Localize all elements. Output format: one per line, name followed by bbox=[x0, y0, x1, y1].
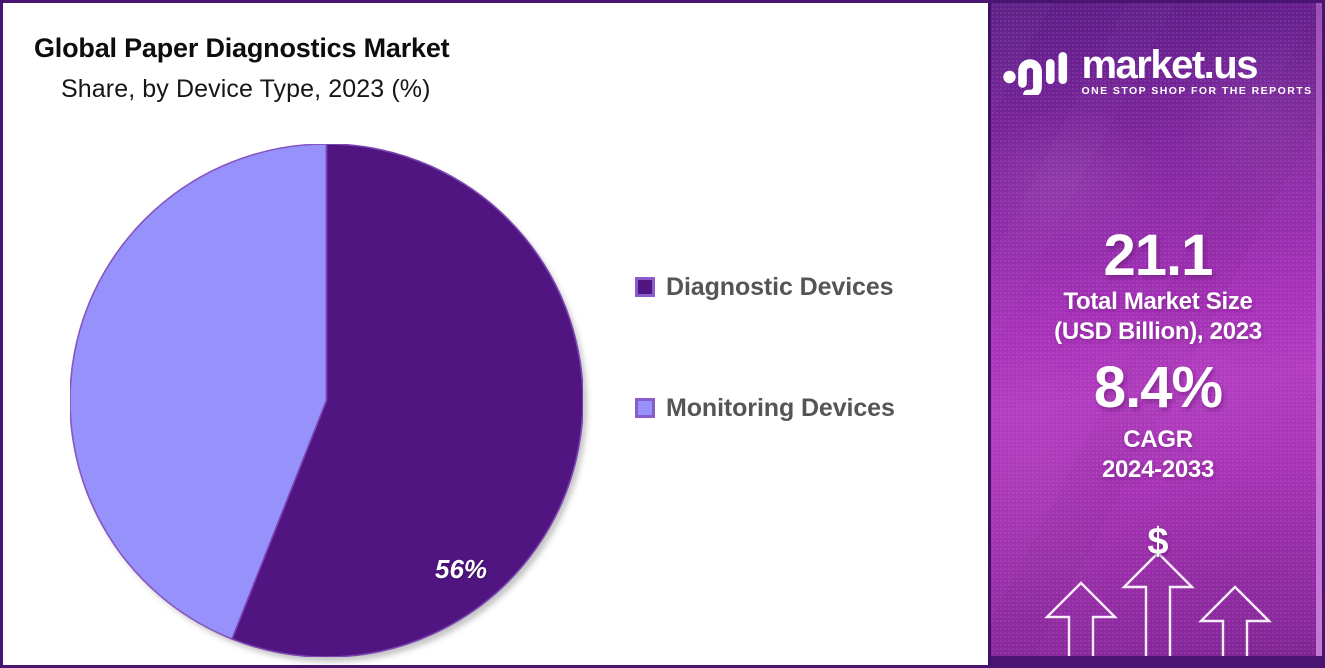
stat-market-size-value: 21.1 bbox=[991, 225, 1322, 287]
brand-logo[interactable]: market.us ONE STOP SHOP FOR THE REPORTS bbox=[991, 43, 1322, 99]
chart-subtitle: Share, by Device Type, 2023 (%) bbox=[61, 75, 431, 104]
brand-logo-text: market.us ONE STOP SHOP FOR THE REPORTS bbox=[1081, 46, 1312, 97]
chart-legend: Diagnostic Devices Monitoring Devices bbox=[635, 273, 945, 422]
pie-chart: 56% bbox=[70, 144, 583, 657]
growth-arrows-graphic: $ bbox=[991, 505, 1322, 665]
legend-label-diagnostic-devices: Diagnostic Devices bbox=[666, 273, 893, 302]
stat-cagr-value: 8.4% bbox=[991, 357, 1322, 419]
pie-slice-label-diagnostic-devices: 56% bbox=[435, 554, 487, 585]
brand-tagline: ONE STOP SHOP FOR THE REPORTS bbox=[1081, 85, 1312, 97]
infographic-frame: Global Paper Diagnostics Market Share, b… bbox=[0, 0, 1325, 668]
stat-cagr-caption-line2: 2024-2033 bbox=[991, 455, 1322, 485]
brand-statistics: 21.1 Total Market Size (USD Billion), 20… bbox=[991, 225, 1322, 485]
pie-slices bbox=[70, 144, 583, 657]
stat-cagr-caption-line1: CAGR bbox=[991, 425, 1322, 455]
legend-swatch-diagnostic-devices bbox=[635, 277, 655, 297]
page-title: Global Paper Diagnostics Market bbox=[34, 33, 449, 64]
legend-label-monitoring-devices: Monitoring Devices bbox=[666, 394, 895, 423]
dollar-sign-icon: $ bbox=[991, 521, 1322, 564]
legend-swatch-monitoring-devices bbox=[635, 398, 655, 418]
chart-panel: Global Paper Diagnostics Market Share, b… bbox=[3, 3, 988, 665]
legend-item-monitoring-devices[interactable]: Monitoring Devices bbox=[635, 394, 945, 422]
brand-bottom-bar bbox=[991, 656, 1322, 665]
legend-item-diagnostic-devices[interactable]: Diagnostic Devices bbox=[635, 273, 945, 301]
stat-market-size-caption: Total Market Size (USD Billion), 2023 bbox=[991, 287, 1322, 347]
stat-cagr-caption: CAGR 2024-2033 bbox=[991, 425, 1322, 485]
brand-wordmark: market.us bbox=[1081, 46, 1312, 84]
brand-right-edge-highlight bbox=[1316, 3, 1322, 665]
brand-panel: market.us ONE STOP SHOP FOR THE REPORTS … bbox=[988, 3, 1322, 665]
stat-market-size-caption-line2: (USD Billion), 2023 bbox=[991, 317, 1322, 347]
market-us-waveform-logo-icon bbox=[1003, 47, 1069, 95]
stat-market-size-caption-line1: Total Market Size bbox=[991, 287, 1322, 317]
